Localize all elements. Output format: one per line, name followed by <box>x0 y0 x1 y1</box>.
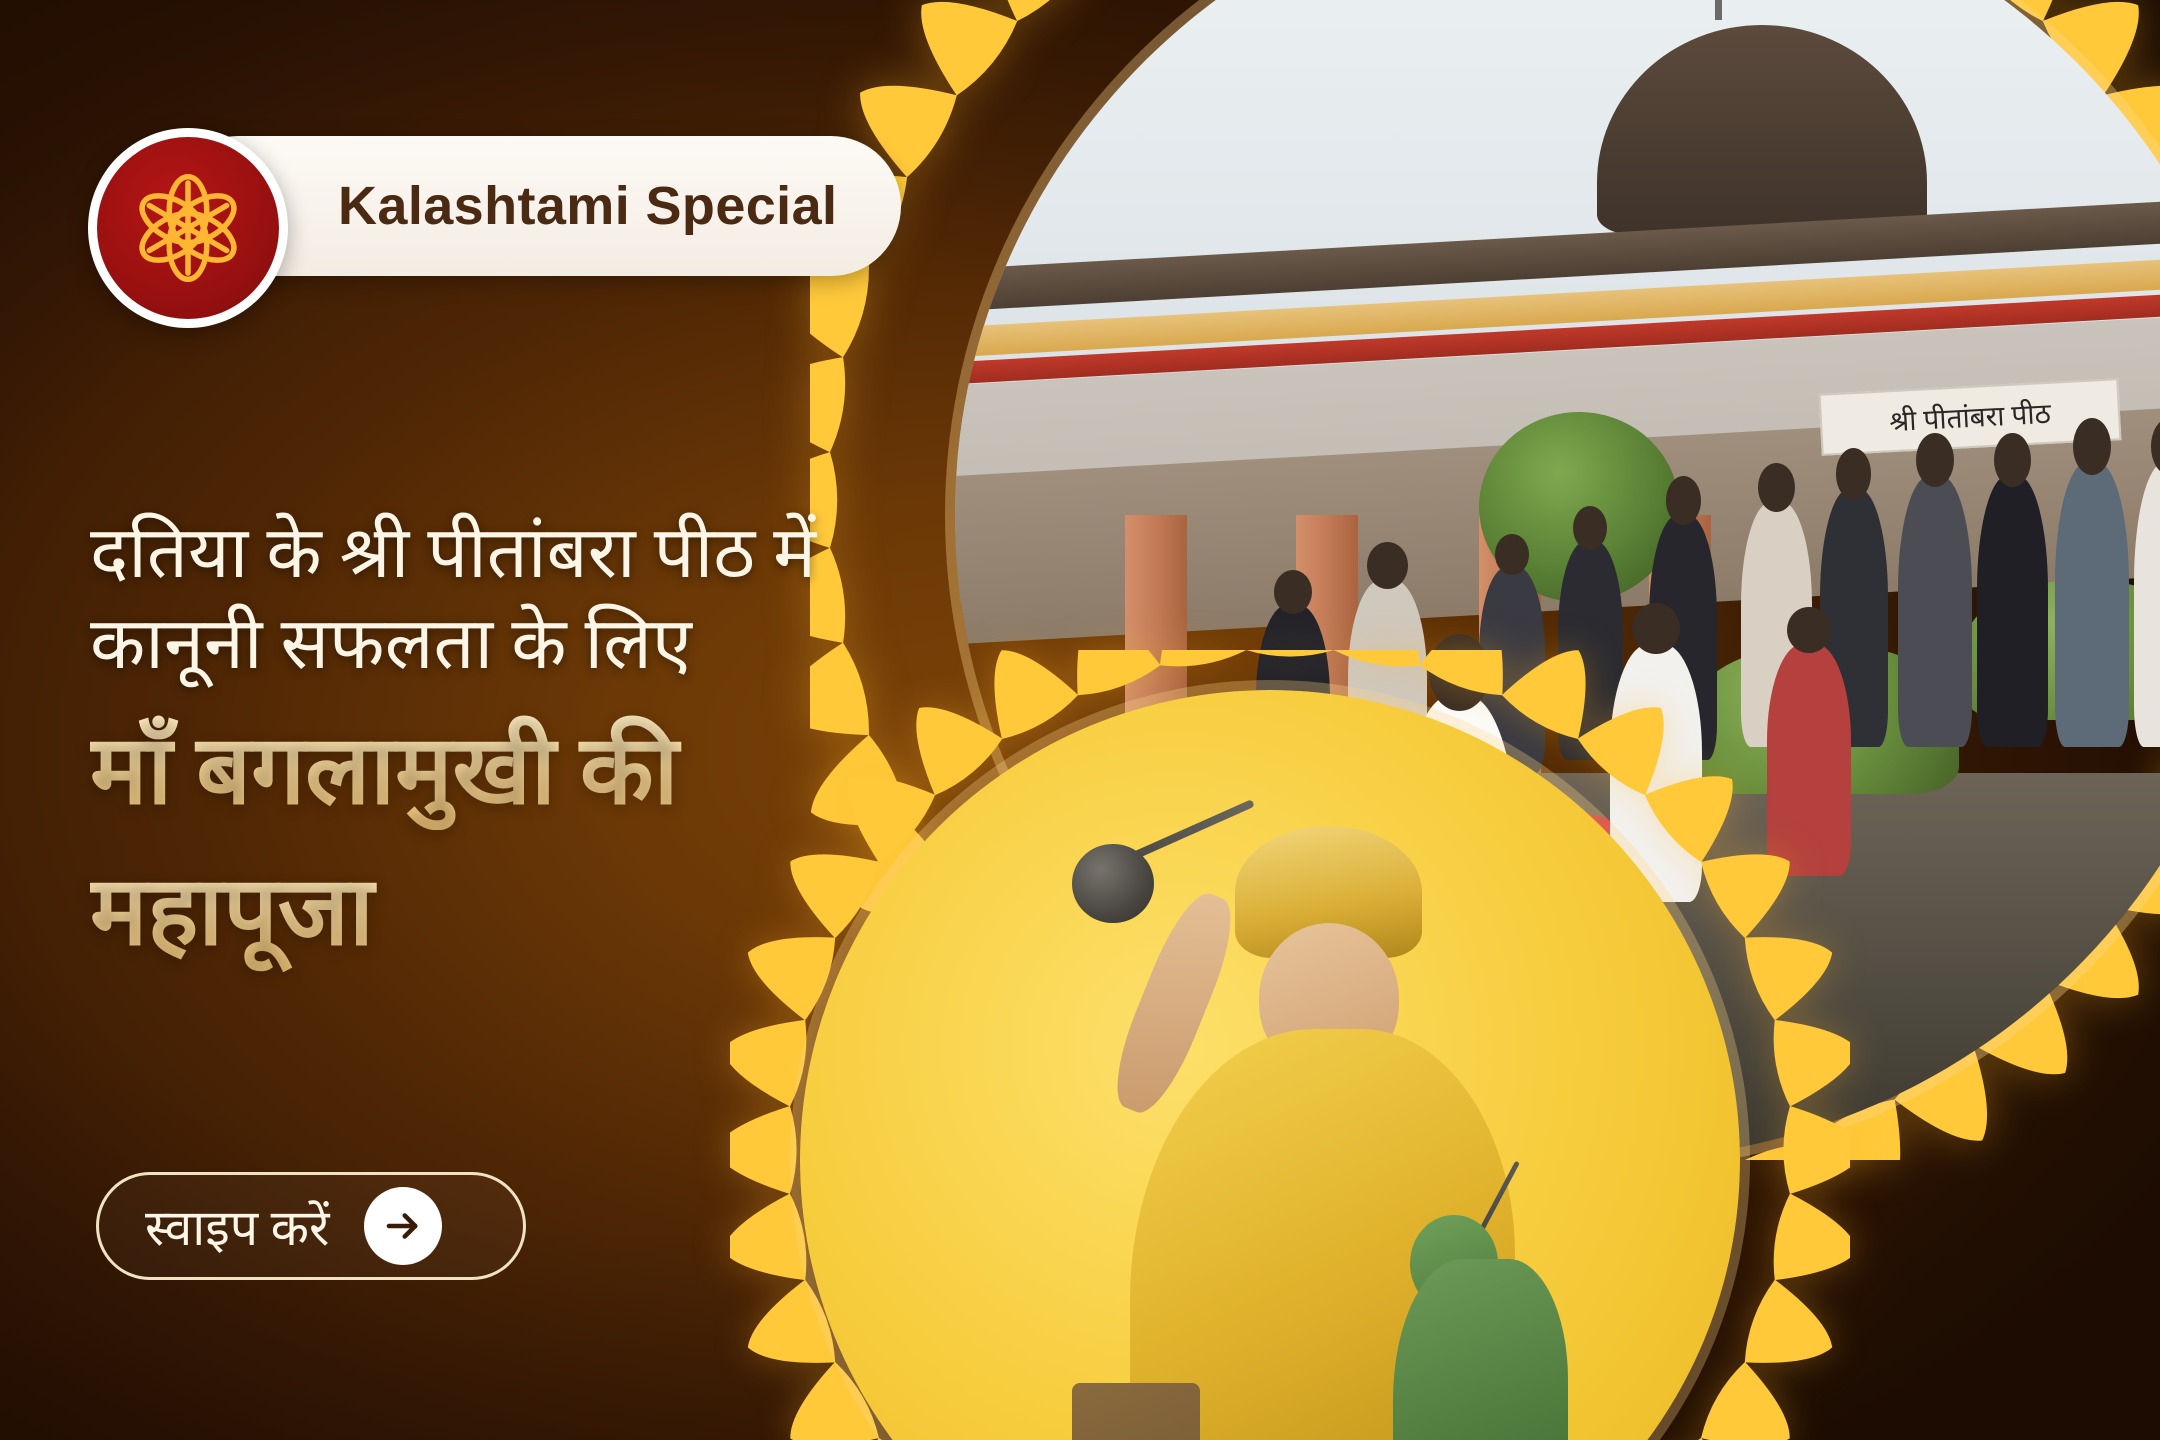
brand-logo <box>88 128 288 328</box>
devotee-silhouette <box>1898 476 1971 747</box>
devotee-head <box>1916 433 1954 487</box>
ray-petal <box>1768 1006 1850 1107</box>
devotee-head <box>1994 433 2031 487</box>
swipe-button-label: स्वाइप करें <box>145 1192 330 1260</box>
ray-petal <box>1739 1277 1848 1388</box>
badge-label: Kalashtami Special <box>338 175 837 237</box>
devotee-head <box>1367 542 1408 588</box>
ray-petal <box>1640 745 1761 866</box>
goddess-idol <box>1026 746 1609 1440</box>
devotee-head <box>1666 476 1701 525</box>
brand-logo-disc <box>97 137 279 319</box>
ray-petal <box>1332 650 1433 672</box>
devotee-head <box>1787 607 1831 653</box>
devotee-head <box>1836 448 1871 500</box>
flag-pole <box>1715 0 1722 20</box>
headline-subline-1: दतिया के श्री पीतांबरा पीठ में <box>90 508 930 599</box>
devotee-head <box>1274 570 1312 614</box>
lotus-mandala-icon <box>113 153 263 303</box>
devotee-head <box>2073 418 2111 475</box>
mace-handle <box>1129 799 1255 861</box>
devotee-head <box>1758 463 1795 512</box>
arrow-right-icon[interactable] <box>364 1187 442 1265</box>
ray-petal <box>1768 1192 1850 1293</box>
devotee-head <box>1495 534 1529 575</box>
devotee-head <box>1632 603 1680 655</box>
headline-main-2: महापूजा <box>90 852 930 971</box>
swipe-button[interactable]: स्वाइप करें <box>96 1172 526 1280</box>
ray-petal <box>1246 650 1334 657</box>
headline-block: दतिया के श्री पीतांबरा पीठ में कानूनी सफ… <box>90 508 930 972</box>
throne <box>1072 1383 1200 1440</box>
ray-petal <box>1783 1106 1850 1194</box>
devotee-silhouette <box>1977 476 2048 747</box>
photo-cluster: श्री पीतांबरा पीठ <box>900 0 2160 1440</box>
ray-petal <box>1695 1359 1811 1440</box>
temple-name-sign-text: श्री पीतांबरा पीठ <box>1888 394 2051 440</box>
devotee-silhouette <box>2055 463 2128 747</box>
mace-head <box>1072 844 1154 924</box>
headline-subline-2: कानूनी सफलता के लिए <box>90 599 930 690</box>
headline-main-1: माँ बगलामुखी की <box>90 711 930 830</box>
ray-petal <box>1146 650 1247 672</box>
ray-petal <box>1739 911 1848 1022</box>
content-column: Kalashtami Special <box>0 0 980 1440</box>
devotee-head <box>1573 506 1607 550</box>
